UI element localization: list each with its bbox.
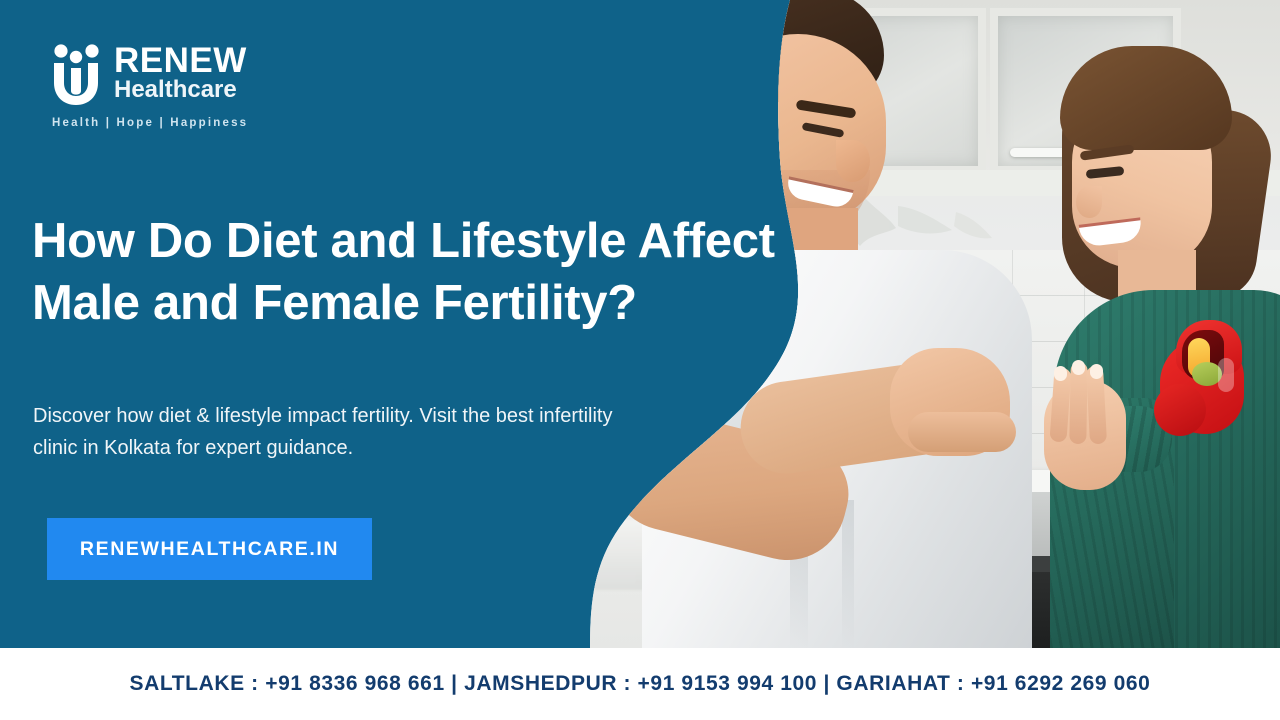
content-panel: RENEW Healthcare Health | Hope | Happine…: [0, 0, 700, 648]
footer-contact-text[interactable]: SALTLAKE : +91 8336 968 661 | JAMSHEDPUR…: [130, 672, 1151, 696]
brand-tagline: Health | Hope | Happiness: [52, 117, 248, 129]
page-title: How Do Diet and Lifestyle Affect Male an…: [32, 211, 862, 334]
u-people-logo-icon: [50, 44, 102, 108]
promo-banner: RENEW Healthcare Health | Hope | Happine…: [0, 0, 1280, 720]
logo-name-primary: RENEW: [114, 44, 247, 77]
red-bell-pepper-icon: [1160, 318, 1252, 440]
hero-subtext: Discover how diet & lifestyle impact fer…: [33, 400, 633, 464]
contact-footer-bar: SALTLAKE : +91 8336 968 661 | JAMSHEDPUR…: [0, 648, 1280, 720]
logo-name-secondary: Healthcare: [114, 77, 247, 103]
website-cta-button[interactable]: RENEWHEALTHCARE.IN: [47, 518, 372, 580]
